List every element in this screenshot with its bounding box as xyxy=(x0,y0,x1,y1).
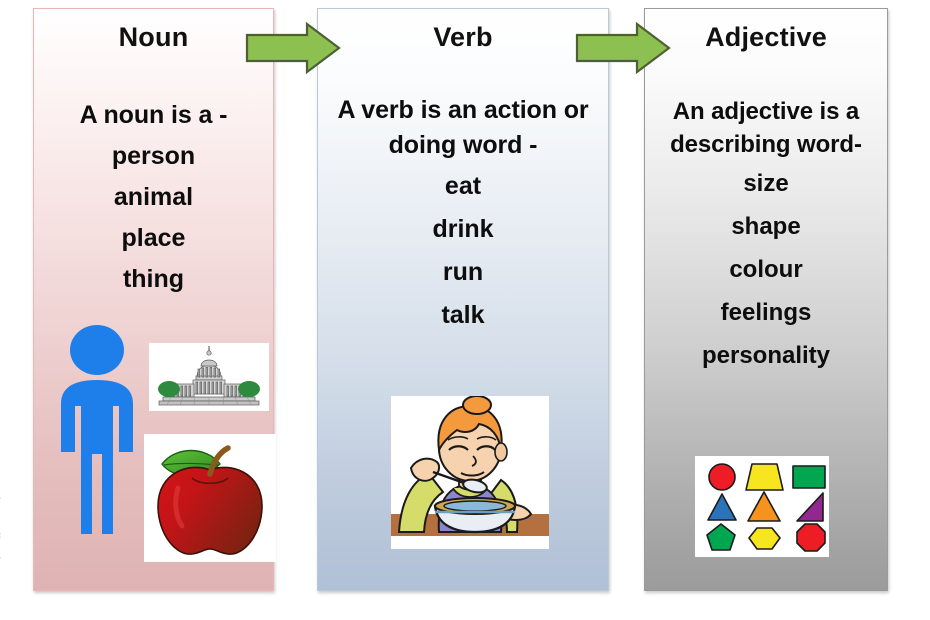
column-verb: Verb A verb is an action or doing word -… xyxy=(317,8,609,591)
apple-illustration xyxy=(144,434,276,562)
column-adjective: Adjective An adjective is a describing w… xyxy=(644,8,888,591)
parts-of-speech-worksheet: iSLCollective.com Noun A noun is a - per… xyxy=(0,0,930,620)
word-list-noun: person animal place thing xyxy=(34,136,273,300)
column-title-noun: Noun xyxy=(34,22,273,53)
word-item: person xyxy=(34,136,273,177)
capitol-building-photo xyxy=(149,343,269,411)
definition-noun: A noun is a - xyxy=(34,95,273,136)
word-item: thing xyxy=(34,259,273,300)
word-item: place xyxy=(34,218,273,259)
column-title-adjective: Adjective xyxy=(645,22,887,53)
colored-shapes-chart xyxy=(695,456,829,557)
word-item: talk xyxy=(318,294,608,337)
girl-eating-soup-illustration xyxy=(391,396,549,549)
word-item: size xyxy=(645,162,887,205)
word-item: personality xyxy=(645,334,887,377)
word-list-verb: eat drink run talk xyxy=(318,165,608,337)
word-item: drink xyxy=(318,208,608,251)
word-item: run xyxy=(318,251,608,294)
word-list-adjective: size shape colour feelings personality xyxy=(645,162,887,377)
watermark-islcollective: iSLCollective.com xyxy=(0,497,2,601)
word-item: animal xyxy=(34,177,273,218)
definition-verb: A verb is an action or doing word - xyxy=(318,93,608,163)
arrow-noun-to-verb-icon xyxy=(245,22,341,74)
column-noun: Noun A noun is a - person animal place t… xyxy=(33,8,274,591)
person-pictogram xyxy=(47,322,147,540)
word-item: shape xyxy=(645,205,887,248)
column-title-verb: Verb xyxy=(318,22,608,53)
word-item: eat xyxy=(318,165,608,208)
word-item: feelings xyxy=(645,291,887,334)
arrow-verb-to-adjective-icon xyxy=(575,22,671,74)
definition-adjective: An adjective is a describing word- xyxy=(645,95,887,161)
word-item: colour xyxy=(645,248,887,291)
